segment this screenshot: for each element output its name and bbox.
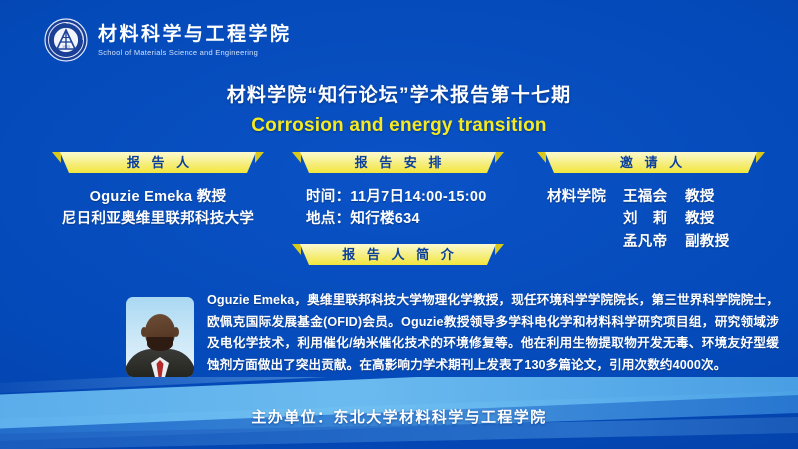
speaker-details: Oguzie Emeka 教授 尼日利亚奥维里联邦科技大学: [60, 186, 256, 231]
ribbon-body: 邀 请 人: [545, 152, 757, 173]
invite-name: 孟凡帝: [623, 231, 685, 253]
invite-name: 王福会: [623, 186, 685, 208]
org-title-block: 材料科学与工程学院 School of Materials Science an…: [98, 23, 292, 58]
org-name-en: School of Materials Science and Engineer…: [98, 48, 292, 57]
ribbon-bio: 报 告 人 简 介: [300, 244, 496, 265]
ribbon-speaker: 报 告 人: [60, 152, 256, 173]
speaker-name: Oguzie Emeka 教授: [60, 186, 256, 208]
poster-canvas: 1923 材料科学与工程学院 School of Materials Scien…: [0, 0, 798, 449]
ribbon-tail-left-icon: [537, 152, 546, 163]
invite-rank: 副教授: [685, 234, 729, 250]
ribbon-tail-left-icon: [292, 244, 301, 255]
ribbon-label-schedule: 报 告 安 排: [351, 156, 446, 169]
header: 1923 材料科学与工程学院 School of Materials Scien…: [44, 18, 292, 62]
ribbon-schedule: 报 告 安 排: [300, 152, 496, 173]
list-item: 刘 莉教授: [547, 208, 757, 230]
section-invite: 邀 请 人 材料学院王福会教授 刘 莉教授 孟凡帝副教授: [545, 152, 757, 253]
section-bio-header: 报 告 人 简 介: [300, 244, 496, 265]
ribbon-tail-right-icon: [495, 152, 504, 163]
schedule-details: 时间：11月7日14:00-15:00 地点：知行楼634: [300, 186, 496, 231]
portrait-beard: [147, 337, 173, 351]
ribbon-tail-right-icon: [756, 152, 765, 163]
ribbon-body: 报 告 人 简 介: [300, 244, 496, 265]
org-name-cn: 材料科学与工程学院: [98, 25, 292, 45]
section-schedule: 报 告 安 排 时间：11月7日14:00-15:00 地点：知行楼634: [300, 152, 496, 231]
speaker-affiliation: 尼日利亚奥维里联邦科技大学: [60, 208, 256, 230]
ribbon-tail-left-icon: [292, 152, 301, 163]
ribbon-tail-right-icon: [255, 152, 264, 163]
ribbon-body: 报 告 人: [60, 152, 256, 173]
ribbon-label-invite: 邀 请 人: [616, 156, 686, 169]
footer: 主办单位：东北大学材料科学与工程学院: [0, 377, 798, 449]
invite-list: 材料学院王福会教授 刘 莉教授 孟凡帝副教授: [545, 186, 757, 253]
ribbon-label-speaker: 报 告 人: [123, 156, 193, 169]
page-title: 材料学院“知行论坛”学术报告第十七期: [0, 80, 798, 107]
ribbon-tail-right-icon: [495, 244, 504, 255]
speaker-portrait: [126, 297, 194, 377]
invite-name: 刘 莉: [623, 208, 685, 230]
list-item: 孟凡帝副教授: [547, 231, 757, 253]
organizer-text: 主办单位：东北大学材料科学与工程学院: [0, 406, 798, 427]
invite-dept: 材料学院: [547, 186, 623, 208]
schedule-place: 地点：知行楼634: [306, 208, 496, 230]
ribbon-tail-left-icon: [52, 152, 61, 163]
ribbon-invite: 邀 请 人: [545, 152, 757, 173]
ribbon-body: 报 告 安 排: [300, 152, 496, 173]
schedule-time: 时间：11月7日14:00-15:00: [306, 186, 496, 208]
ribbon-label-bio: 报 告 人 简 介: [338, 248, 457, 261]
invite-rank: 教授: [685, 211, 715, 227]
section-speaker: 报 告 人 Oguzie Emeka 教授 尼日利亚奥维里联邦科技大学: [60, 152, 256, 231]
invite-rank: 教授: [685, 189, 715, 205]
list-item: 材料学院王福会教授: [547, 186, 757, 208]
speaker-bio-text: Oguzie Emeka，奥维里联邦科技大学物理化学教授，现任环境科学学院院长，…: [207, 290, 779, 377]
svg-text:1923: 1923: [62, 45, 70, 49]
page-subtitle: Corrosion and energy transition: [0, 115, 798, 137]
neu-seal-icon: 1923: [44, 18, 88, 62]
